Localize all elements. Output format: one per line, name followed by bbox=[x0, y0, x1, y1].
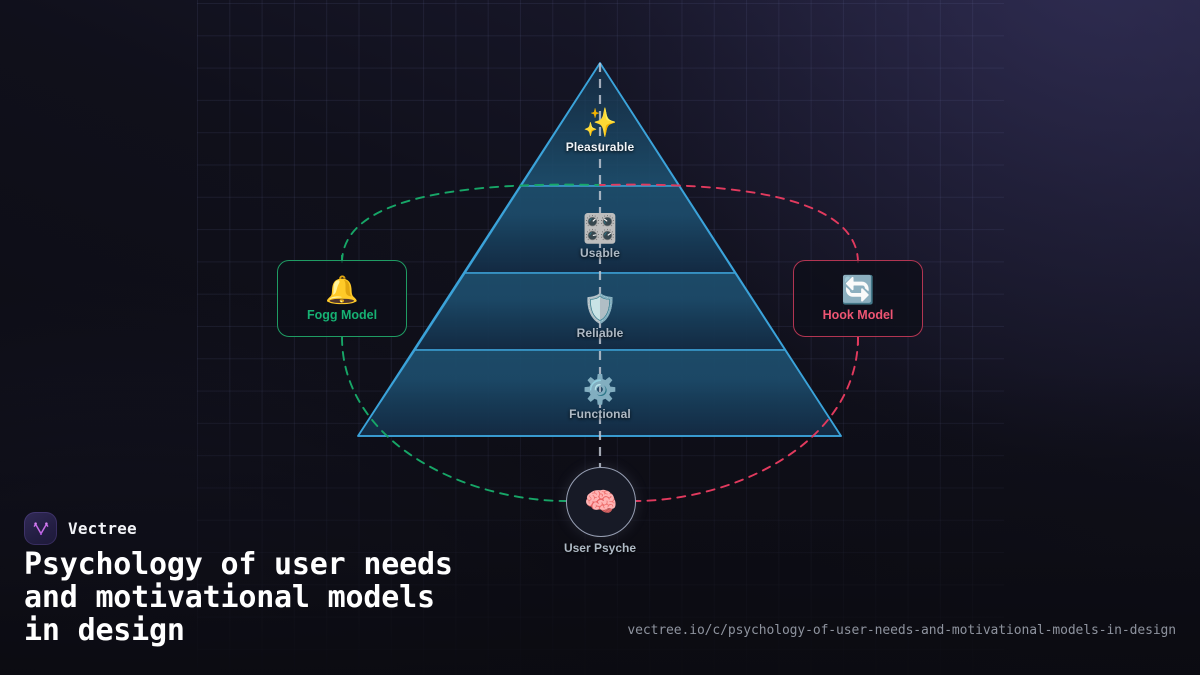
source-url: vectree.io/c/psychology-of-user-needs-an… bbox=[627, 623, 1176, 638]
hook-model-node[interactable]: 🔄 Hook Model bbox=[793, 260, 923, 337]
vectree-v-logo-icon bbox=[31, 519, 51, 539]
brand-row: Vectree bbox=[24, 512, 137, 545]
brain-icon: 🧠 bbox=[584, 488, 618, 517]
bell-icon: 🔔 bbox=[325, 276, 359, 305]
fogg-model-node[interactable]: 🔔 Fogg Model bbox=[277, 260, 407, 337]
fogg-model-label: Fogg Model bbox=[307, 308, 377, 322]
repeat-arrows-icon: 🔄 bbox=[841, 276, 875, 305]
brand-name: Vectree bbox=[68, 519, 137, 538]
screenshot-canvas: ✨ Pleasurable 🎛️ Usable 🛡️ Reliable ⚙️ F… bbox=[0, 0, 1200, 675]
user-psyche-node[interactable]: 🧠 bbox=[566, 467, 636, 537]
logo-dot-left bbox=[34, 522, 37, 525]
logo-dot-right bbox=[45, 522, 48, 525]
hook-model-label: Hook Model bbox=[823, 308, 894, 322]
vectree-logo bbox=[24, 512, 57, 545]
logo-dot-bottom bbox=[39, 532, 41, 534]
